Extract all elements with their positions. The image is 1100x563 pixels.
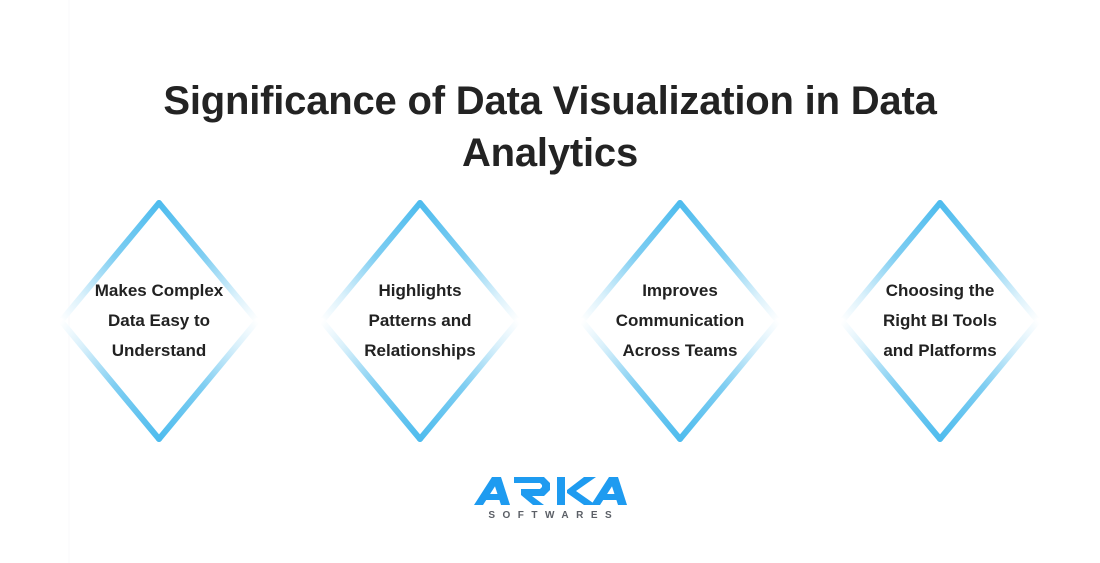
diamond-label-1: Makes Complex Data Easy to Understand (59, 276, 259, 366)
diamond-card-3[interactable]: Improves Communication Across Teams (579, 200, 781, 442)
page-title: Significance of Data Visualization in Da… (0, 75, 1100, 179)
diamond-label-4: Choosing the Right BI Tools and Platform… (840, 276, 1040, 366)
diamond-label-2: Highlights Patterns and Relationships (320, 276, 520, 366)
logo-tagline: SOFTWARES (472, 510, 628, 521)
diamond-row: Makes Complex Data Easy to Understand (0, 200, 1100, 442)
company-logo: SOFTWARES (0, 476, 1100, 523)
arka-wordmark-icon (472, 476, 628, 506)
diamond-label-3: Improves Communication Across Teams (580, 276, 780, 366)
diamond-card-1[interactable]: Makes Complex Data Easy to Understand (58, 200, 260, 442)
diamond-card-4[interactable]: Choosing the Right BI Tools and Platform… (839, 200, 1041, 442)
infographic-canvas: Significance of Data Visualization in Da… (0, 0, 1100, 563)
diamond-card-2[interactable]: Highlights Patterns and Relationships (319, 200, 521, 442)
